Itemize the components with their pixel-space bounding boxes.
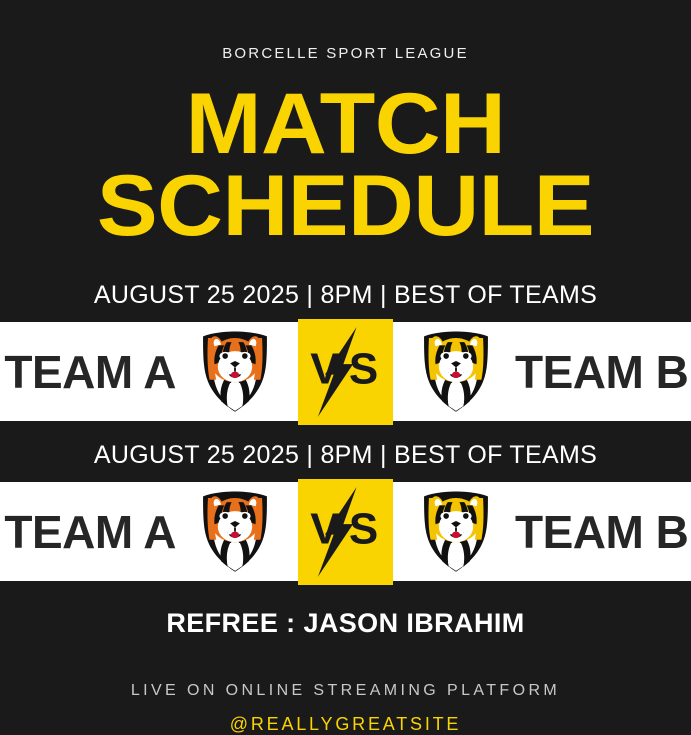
match-row: TEAM A bbox=[0, 482, 691, 581]
match-row: TEAM A bbox=[0, 322, 691, 421]
referee-text: REFREE : JASON IBRAHIM bbox=[0, 608, 691, 639]
tiger-yellow-logo-icon bbox=[415, 489, 497, 575]
match-2-away-side: TEAM B bbox=[393, 482, 691, 581]
svg-text:S: S bbox=[348, 344, 377, 393]
tiger-yellow-logo-icon bbox=[415, 329, 497, 415]
page-title: MATCH SCHEDULE bbox=[0, 84, 691, 247]
match-info-2: AUGUST 25 2025 | 8PM | BEST OF TEAMS bbox=[0, 441, 691, 470]
match-schedule-poster: BORCELLE SPORT LEAGUE MATCH SCHEDULE AUG… bbox=[0, 0, 691, 691]
match-2-vs-badge: V S bbox=[298, 479, 393, 585]
match-1-away-team-name: TEAM B bbox=[515, 345, 688, 399]
streaming-line: LIVE ON ONLINE STREAMING PLATFORM bbox=[0, 682, 691, 700]
match-1-vs-badge: V S bbox=[298, 319, 393, 425]
league-name: BORCELLE SPORT LEAGUE bbox=[0, 45, 691, 62]
match-info-1: AUGUST 25 2025 | 8PM | BEST OF TEAMS bbox=[0, 281, 691, 310]
svg-text:S: S bbox=[348, 504, 377, 553]
match-1-vs-label: V bbox=[310, 344, 340, 393]
match-2-vs-label: V bbox=[310, 504, 340, 553]
tiger-orange-logo-icon bbox=[194, 489, 276, 575]
match-1-home-side: TEAM A bbox=[0, 322, 298, 421]
match-2-home-side: TEAM A bbox=[0, 482, 298, 581]
match-2-home-team-name: TEAM A bbox=[4, 505, 176, 559]
tiger-orange-logo-icon bbox=[194, 329, 276, 415]
social-handle: @REALLYGREATSITE bbox=[0, 714, 691, 735]
match-2-away-team-name: TEAM B bbox=[515, 505, 688, 559]
match-1-away-side: TEAM B bbox=[393, 322, 691, 421]
match-1-home-team-name: TEAM A bbox=[4, 345, 176, 399]
